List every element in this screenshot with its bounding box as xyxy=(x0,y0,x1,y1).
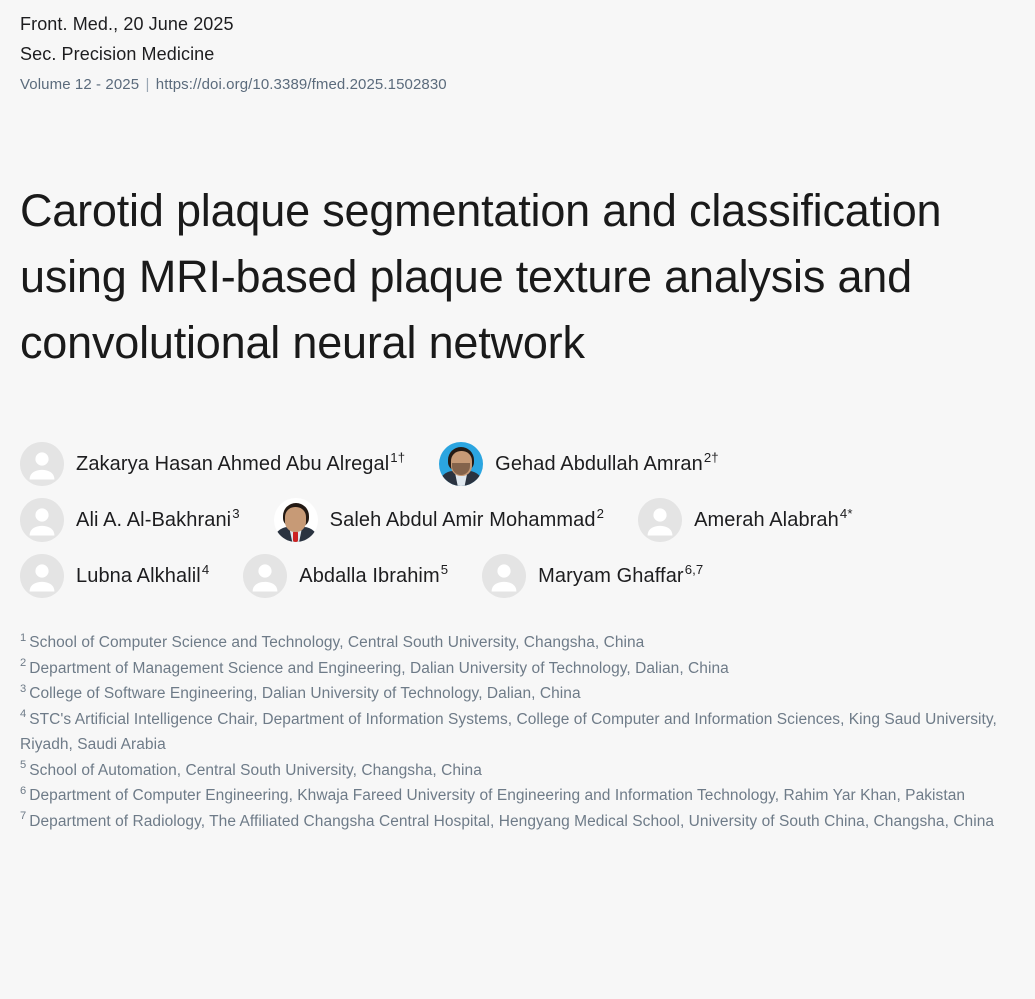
author-row: Ali A. Al-Bakhrani3 Saleh Abdul Amir Moh… xyxy=(20,498,1015,542)
meta-separator: | xyxy=(143,76,151,93)
author-affiliation-marker: 4* xyxy=(840,506,853,521)
author-name[interactable]: Lubna Alkhalil4 xyxy=(76,565,209,588)
affiliation-marker: 1 xyxy=(20,632,26,644)
affiliation-marker: 3 xyxy=(20,683,26,695)
avatar-placeholder-icon xyxy=(20,442,64,486)
avatar-photo xyxy=(274,498,318,542)
affiliation-text: Department of Radiology, The Affiliated … xyxy=(29,813,994,830)
author-name[interactable]: Maryam Ghaffar6,7 xyxy=(538,565,703,588)
journal-volume: Volume 12 - 2025 xyxy=(20,76,139,93)
author-row: Lubna Alkhalil4 Abdalla Ibrahim5 xyxy=(20,554,1015,598)
affiliation-text: School of Automation, Central South Univ… xyxy=(29,762,482,779)
affiliation-item: 2Department of Management Science and En… xyxy=(20,656,1015,682)
author-entry[interactable]: Ali A. Al-Bakhrani3 xyxy=(20,498,240,542)
avatar-placeholder-icon xyxy=(638,498,682,542)
affiliation-marker: 6 xyxy=(20,785,26,797)
author-list: Zakarya Hasan Ahmed Abu Alregal1† Gehad … xyxy=(20,376,1015,598)
author-name[interactable]: Ali A. Al-Bakhrani3 xyxy=(76,509,240,532)
avatar-placeholder-icon xyxy=(243,554,287,598)
author-name-text: Ali A. Al-Bakhrani xyxy=(76,509,231,531)
author-name-text: Amerah Alabrah xyxy=(694,509,839,531)
author-name[interactable]: Abdalla Ibrahim5 xyxy=(299,565,448,588)
affiliation-text: College of Software Engineering, Dalian … xyxy=(29,685,580,702)
author-entry[interactable]: Zakarya Hasan Ahmed Abu Alregal1† xyxy=(20,442,405,486)
article-doi-link[interactable]: https://doi.org/10.3389/fmed.2025.150283… xyxy=(156,76,447,93)
author-affiliation-marker: 6,7 xyxy=(685,562,704,577)
author-name-text: Gehad Abdullah Amran xyxy=(495,453,703,475)
author-name-text: Saleh Abdul Amir Mohammad xyxy=(330,509,596,531)
affiliation-marker: 7 xyxy=(20,810,26,822)
author-name[interactable]: Amerah Alabrah4* xyxy=(694,509,853,532)
author-name[interactable]: Zakarya Hasan Ahmed Abu Alregal1† xyxy=(76,453,405,476)
author-affiliation-marker: 2† xyxy=(704,450,719,465)
author-affiliation-marker: 5 xyxy=(441,562,448,577)
article-header-page: Front. Med., 20 June 2025 Sec. Precision… xyxy=(0,0,1035,999)
author-row: Zakarya Hasan Ahmed Abu Alregal1† Gehad … xyxy=(20,442,1015,486)
affiliation-text: STC's Artificial Intelligence Chair, Dep… xyxy=(20,711,997,754)
journal-name-and-date: Front. Med., 20 June 2025 xyxy=(20,9,1015,39)
author-affiliation-marker: 1† xyxy=(390,450,405,465)
affiliation-marker: 4 xyxy=(20,708,26,720)
author-name-text: Zakarya Hasan Ahmed Abu Alregal xyxy=(76,453,389,475)
affiliation-item: 6Department of Computer Engineering, Khw… xyxy=(20,783,1015,809)
author-entry[interactable]: Lubna Alkhalil4 xyxy=(20,554,209,598)
author-entry[interactable]: Gehad Abdullah Amran2† xyxy=(439,442,719,486)
journal-volume-and-doi: Volume 12 - 2025 | https://doi.org/10.33… xyxy=(20,71,1015,99)
author-name-text: Maryam Ghaffar xyxy=(538,565,684,587)
affiliation-item: 3College of Software Engineering, Dalian… xyxy=(20,681,1015,707)
author-name[interactable]: Gehad Abdullah Amran2† xyxy=(495,453,719,476)
journal-section: Sec. Precision Medicine xyxy=(20,39,1015,69)
affiliation-marker: 2 xyxy=(20,657,26,669)
affiliation-text: Department of Management Science and Eng… xyxy=(29,660,729,677)
author-entry[interactable]: Abdalla Ibrahim5 xyxy=(243,554,448,598)
author-name-text: Lubna Alkhalil xyxy=(76,565,201,587)
affiliation-item: 1School of Computer Science and Technolo… xyxy=(20,630,1015,656)
affiliation-list: 1School of Computer Science and Technolo… xyxy=(20,610,1015,834)
affiliation-item: 7Department of Radiology, The Affiliated… xyxy=(20,809,1015,835)
author-affiliation-marker: 4 xyxy=(202,562,209,577)
journal-header: Front. Med., 20 June 2025 Sec. Precision… xyxy=(20,0,1015,99)
avatar-placeholder-icon xyxy=(20,554,64,598)
author-affiliation-marker: 3 xyxy=(232,506,239,521)
affiliation-item: 4STC's Artificial Intelligence Chair, De… xyxy=(20,707,1015,758)
author-entry[interactable]: Saleh Abdul Amir Mohammad2 xyxy=(274,498,604,542)
affiliation-text: School of Computer Science and Technolog… xyxy=(29,634,644,651)
author-affiliation-marker: 2 xyxy=(597,506,604,521)
author-name[interactable]: Saleh Abdul Amir Mohammad2 xyxy=(330,509,604,532)
page-title: Carotid plaque segmentation and classifi… xyxy=(20,99,980,376)
affiliation-marker: 5 xyxy=(20,759,26,771)
author-entry[interactable]: Amerah Alabrah4* xyxy=(638,498,853,542)
avatar-placeholder-icon xyxy=(482,554,526,598)
avatar-placeholder-icon xyxy=(20,498,64,542)
affiliation-item: 5School of Automation, Central South Uni… xyxy=(20,758,1015,784)
affiliation-text: Department of Computer Engineering, Khwa… xyxy=(29,787,965,804)
avatar-photo xyxy=(439,442,483,486)
author-name-text: Abdalla Ibrahim xyxy=(299,565,439,587)
author-entry[interactable]: Maryam Ghaffar6,7 xyxy=(482,554,703,598)
